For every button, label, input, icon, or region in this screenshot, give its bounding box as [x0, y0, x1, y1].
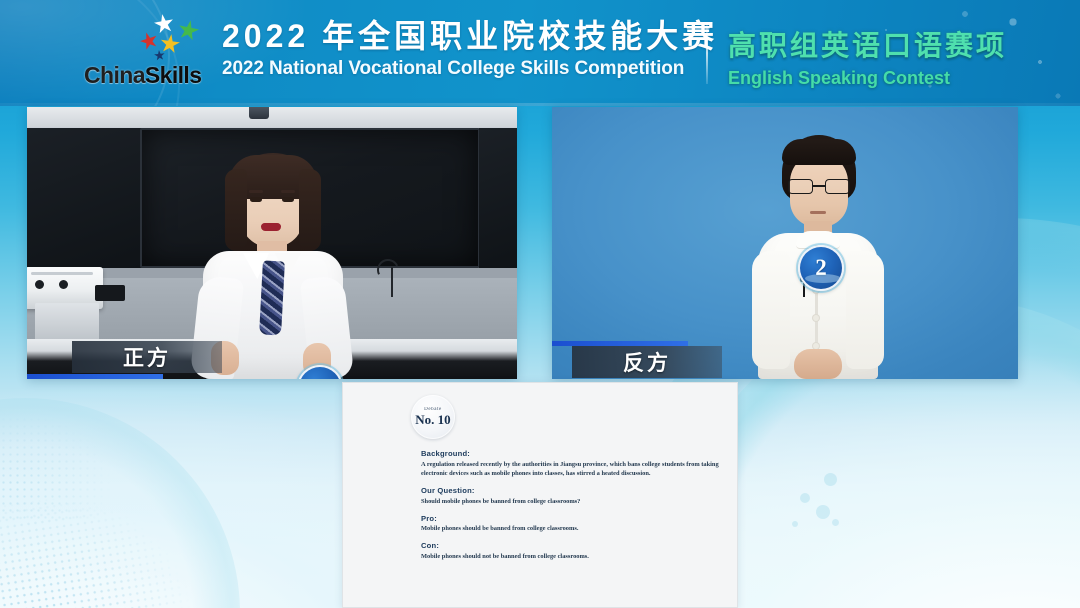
side-label-con-text: 反方 [623, 347, 671, 377]
halftone-dots-bottom-left [0, 402, 243, 608]
con-mouth [810, 211, 826, 214]
lens-left [788, 179, 813, 194]
pro-necktie [259, 260, 285, 335]
blackboard-right [479, 128, 517, 268]
side-label-con: 反方 [572, 346, 722, 378]
classroom-ceiling [27, 107, 517, 127]
star-red-icon [138, 30, 161, 53]
halftone-dots-left [0, 402, 150, 522]
star-green-icon [176, 18, 201, 43]
pro-eye-left [250, 197, 262, 202]
video-panel-con[interactable]: 2 [552, 107, 1018, 379]
document-section-text: Mobile phones should be banned from coll… [421, 524, 723, 534]
equipment-box [95, 285, 125, 301]
document-section-text: Mobile phones should not be banned from … [421, 552, 723, 562]
side-label-pro-text: 正方 [123, 342, 171, 372]
chinaskills-logo: ChinaSkills [84, 14, 224, 94]
document-content: Debate No. 10 Background:A regulation re… [343, 383, 737, 607]
con-shirt-button-3 [813, 315, 819, 321]
header-divider [706, 22, 708, 84]
debate-seal-label: Debate [424, 407, 442, 412]
background-arc-left [0, 398, 240, 608]
event-title-block: 2022 年全国职业院校技能大赛 2022 National Vocationa… [222, 20, 692, 80]
document-section-text: A regulation released recently by the au… [421, 460, 723, 480]
event-header-banner: ChinaSkills 2022 年全国职业院校技能大赛 2022 Nation… [0, 0, 1080, 106]
chinaskills-wordmark: ChinaSkills [84, 62, 201, 89]
pro-hair-right [299, 169, 321, 251]
contest-subtitle-chinese: 高职组英语口语赛项 [728, 24, 1007, 64]
contest-subtitle-english: English Speaking Contest [728, 68, 1007, 89]
con-hands-clasped [794, 349, 842, 379]
lens-right [825, 179, 850, 194]
document-section-heading: Pro: [421, 514, 723, 523]
event-title-chinese: 2022 年全国职业院校技能大赛 [222, 20, 692, 54]
stars-icon [136, 14, 208, 62]
document-section-text: Should mobile phones be banned from coll… [421, 497, 723, 507]
document-section-heading: Con: [421, 541, 723, 550]
star-navy-icon [153, 49, 165, 61]
eyeglasses-icon [788, 179, 850, 194]
pro-eyebrow-right [281, 190, 295, 193]
debate-seal-number: No. 10 [415, 413, 450, 427]
progress-bar-pro[interactable] [27, 374, 163, 379]
glasses-bridge [813, 185, 825, 187]
debate-topic-document[interactable]: Debate No. 10 Background:A regulation re… [342, 382, 738, 608]
side-label-pro: 正方 [72, 341, 222, 373]
document-sections: Background:A regulation released recentl… [421, 449, 723, 569]
pro-eye-right [282, 197, 294, 202]
debate-seal-badge: Debate No. 10 [411, 395, 455, 439]
bubble-cluster-icon [770, 463, 890, 553]
logo-text-china: China [84, 62, 145, 88]
contestant-number-badge-con: 2 [798, 245, 844, 291]
contestant-number-pro: 1 [314, 375, 326, 379]
pro-eyebrow-left [249, 190, 263, 193]
console-knob-1 [35, 280, 44, 289]
con-arm-left [752, 251, 790, 369]
contest-subtitle-block: 高职组英语口语赛项 English Speaking Contest [728, 24, 1007, 89]
event-title-english: 2022 National Vocational College Skills … [222, 58, 692, 80]
contestant-number-con: 2 [815, 255, 827, 281]
star-yellow-icon [159, 33, 182, 56]
document-section-heading: Our Question: [421, 486, 723, 495]
console-knob-2 [59, 280, 68, 289]
con-arm-right [846, 251, 884, 369]
blackboard-left [27, 128, 142, 268]
console-vent [31, 272, 93, 275]
con-hair-fringe [782, 139, 856, 165]
pro-mouth [261, 223, 281, 231]
pro-hair-left [225, 169, 247, 251]
projector-icon [249, 107, 269, 119]
video-panel-pro[interactable]: 1 [27, 107, 517, 379]
logo-text-skills: Skills [145, 62, 202, 88]
document-section-heading: Background: [421, 449, 723, 458]
microphone-stand-icon [391, 267, 393, 297]
star-outline-blue-icon [152, 12, 175, 35]
broadcast-stage: ChinaSkills 2022 年全国职业院校技能大赛 2022 Nation… [0, 0, 1080, 608]
